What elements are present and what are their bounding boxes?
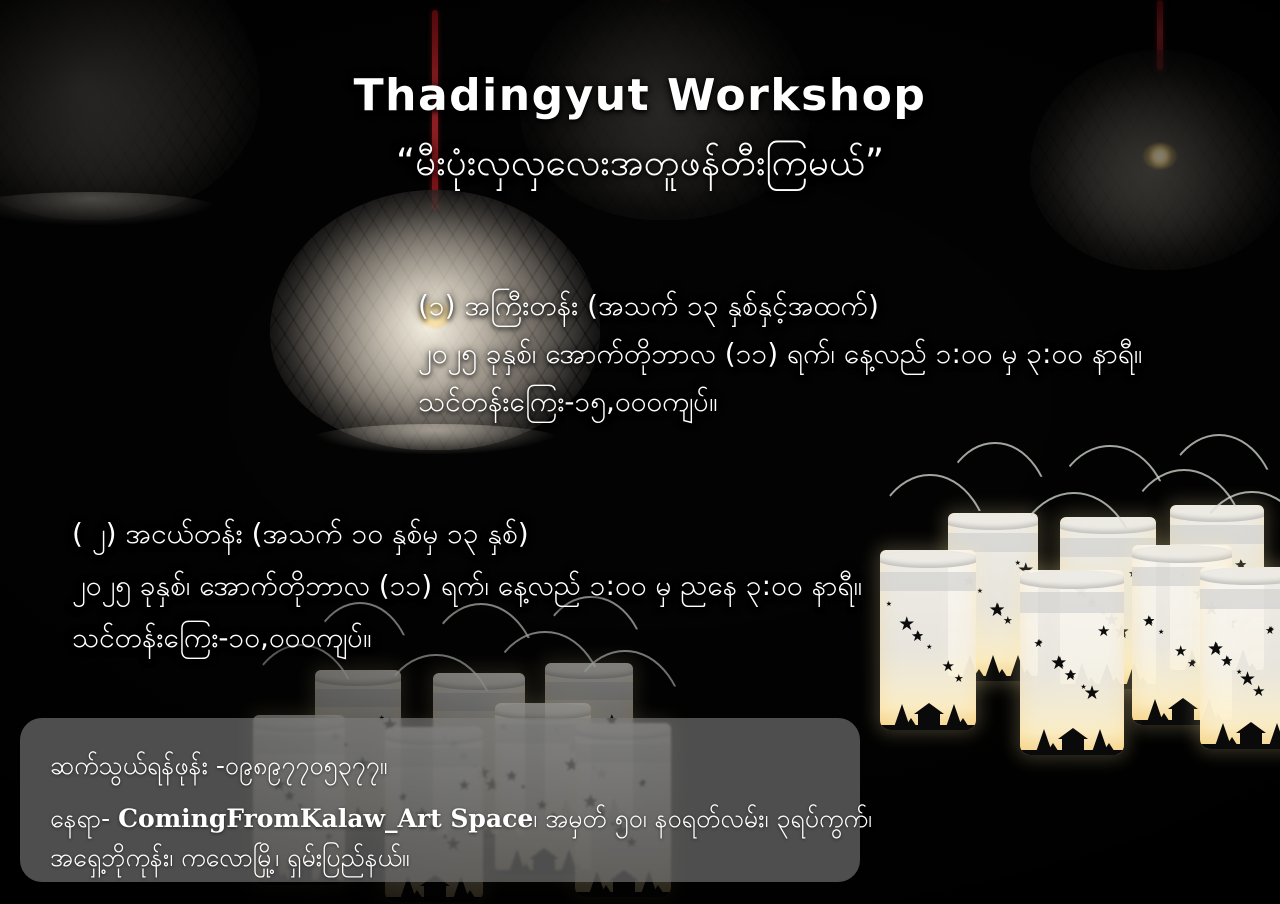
lantern-silhouette-scene — [1200, 702, 1280, 749]
tree-silhouette-icon — [893, 704, 911, 730]
junior-class-line-1: ( ၂) အငယ်တန်း (အသက် ၁၀ နှစ်မှ ၁၃ နှစ်) — [72, 508, 862, 560]
star-icon: ★ — [926, 644, 932, 651]
star-icon: ★ — [1236, 669, 1242, 676]
lantern-silhouette-scene — [1020, 707, 1124, 755]
poster-title: Thadingyut Workshop — [0, 70, 1280, 121]
poster-canvas: ★★★★★★★★★★★★★★★★★★★★★★★★★★★★★★★★★★★★★★★★… — [0, 0, 1280, 904]
venue-prefix-label: နေရာ- — [50, 804, 118, 833]
star-icon: ★ — [1142, 614, 1155, 629]
tree-silhouette-icon — [1091, 729, 1109, 755]
senior-class-line-1: (၁) အကြီးတန်း (အသက် ၁၃ နှစ်နှင့်အထက်) — [418, 282, 1142, 330]
lantern-star-cutouts: ★★★★★★★★★ — [1200, 614, 1280, 709]
venue-address-part: ၊ အမှတ် ၅၀၊ နဝရတ်လမ်း၊ ၃ရပ်ကွက်၊ — [533, 804, 872, 833]
contact-info-box: ဆက်သွယ်ရန်ဖုန်း -၀၉၈၉၇၇၀၅၃၇၇။ နေရာ- Comi… — [20, 718, 860, 882]
lantern-star-cutouts: ★★★★★★★★★ — [1020, 618, 1124, 714]
tree-silhouette-icon — [1268, 723, 1280, 749]
tree-silhouette-icon — [1146, 699, 1164, 725]
lanterns-right-photo: ★★★★★★★★★★★★★★★★★★★★★★★★★★★★★★★★★★★★★★★★… — [870, 455, 1280, 755]
star-icon: ★ — [1265, 625, 1275, 636]
house-silhouette-icon — [1172, 708, 1194, 725]
junior-class-line-3: သင်တန်းကြေး-၁၀,၀၀၀ကျပ်။ — [72, 612, 862, 664]
paper-lantern: ★★★★★★★★★ — [1200, 567, 1280, 749]
star-icon: ★ — [1064, 668, 1077, 683]
star-icon: ★ — [954, 673, 964, 684]
house-silhouette-icon — [1062, 738, 1084, 755]
star-icon: ★ — [989, 601, 1006, 620]
junior-class-block: ( ၂) အငယ်တန်း (အသက် ၁၀ နှစ်မှ ၁၃ နှစ်) ၂… — [72, 508, 862, 663]
venue-name: ComingFromKalaw_Art Space — [118, 804, 533, 833]
lantern-band — [880, 572, 976, 592]
star-icon: ★ — [911, 629, 924, 644]
contact-phone[interactable]: ဆက်သွယ်ရန်ဖုန်း -၀၉၈၉၇၇၀၅၃၇၇။ — [50, 750, 387, 787]
star-icon: ★ — [1097, 624, 1110, 639]
lantern-silhouette-scene — [880, 683, 976, 730]
senior-class-line-2: ၂၀၂၅ ခုနှစ်၊ အောက်တိုဘာလ (၁၁) ရက်၊ နေ့လည… — [418, 330, 1142, 378]
star-icon: ★ — [1252, 684, 1265, 699]
contact-address-line2: အရှေ့ဘိုကုန်း၊ ကလောမြို့၊ ရှမ်းပြည်နယ်။ — [50, 842, 409, 879]
lantern-star-cutouts: ★★★★★★★ — [880, 597, 976, 691]
star-icon: ★ — [886, 601, 892, 608]
house-silhouette-icon — [1240, 732, 1262, 749]
poster-subtitle: “မီးပုံးလှလှလေးအတူဖန်တီးကြမယ်” — [0, 140, 1280, 186]
tree-silhouette-icon — [945, 704, 963, 730]
star-icon: ★ — [941, 659, 954, 674]
paper-lantern: ★★★★★★★★★ — [1020, 570, 1124, 755]
star-icon: ★ — [1158, 629, 1164, 636]
tree-silhouette-icon — [984, 655, 1002, 681]
house-silhouette-icon — [918, 713, 940, 730]
star-icon: ★ — [1220, 654, 1233, 669]
contact-venue: နေရာ- ComingFromKalaw_Art Space၊ အမှတ် ၅… — [50, 803, 872, 840]
paper-lantern: ★★★★★★★ — [880, 550, 976, 730]
star-icon: ★ — [1034, 638, 1044, 649]
star-icon: ★ — [1174, 644, 1187, 659]
star-icon: ★ — [977, 588, 983, 595]
senior-class-block: (၁) အကြီးတန်း (အသက် ၁၃ နှစ်နှင့်အထက်) ၂၀… — [418, 282, 1142, 426]
tree-silhouette-icon — [1214, 723, 1232, 749]
senior-class-line-3: သင်တန်းကြေး-၁၅,၀၀၀ကျပ်။ — [418, 378, 1142, 426]
junior-class-line-2: ၂၀၂၅ ခုနှစ်၊ အောက်တိုဘာလ (၁၁) ရက်၊ နေ့လည… — [72, 560, 862, 612]
lantern-band — [1200, 589, 1280, 609]
tree-silhouette-icon — [1035, 729, 1053, 755]
lantern-band — [1020, 592, 1124, 612]
star-icon: ★ — [1187, 658, 1197, 669]
star-icon: ★ — [1080, 684, 1086, 691]
